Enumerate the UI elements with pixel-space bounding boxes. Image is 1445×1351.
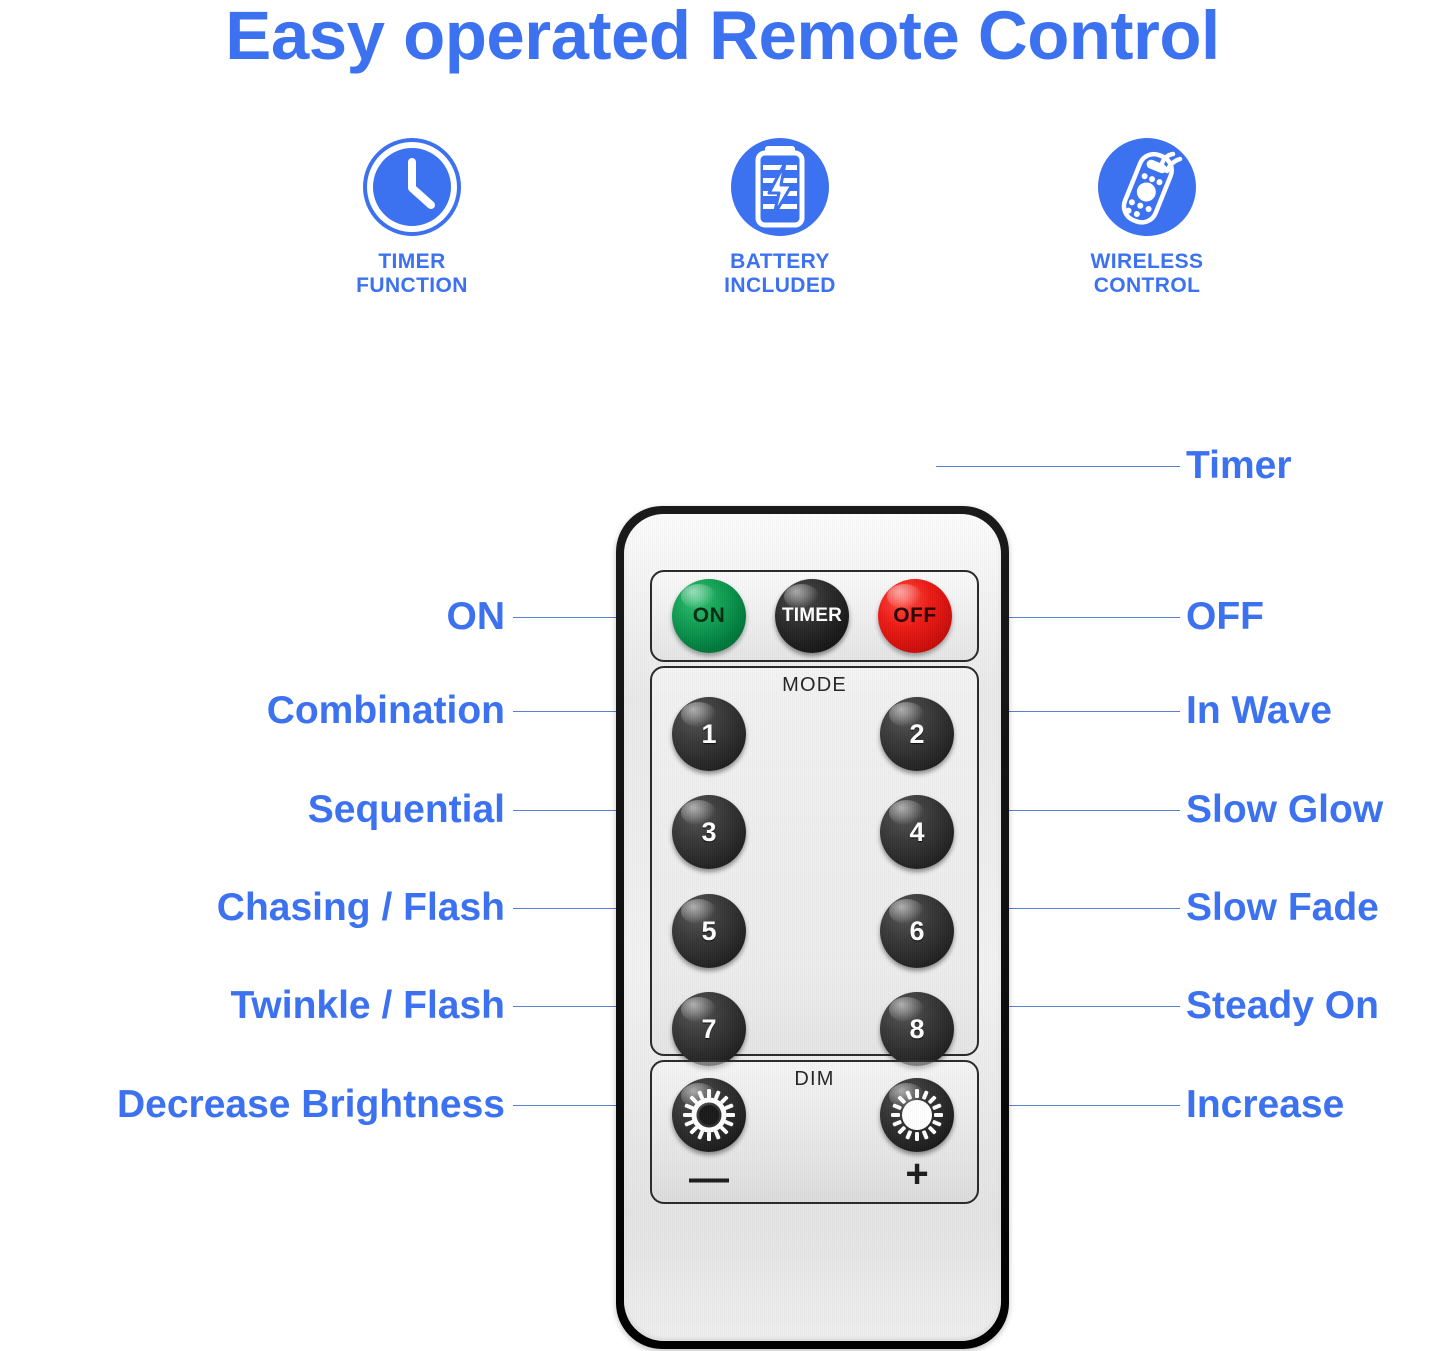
feature-wireless-label: WIRELESS CONTROL bbox=[997, 250, 1297, 297]
feature-timer-label-line1: TIMER bbox=[262, 250, 562, 274]
power-button-panel: ON TIMER OFF bbox=[650, 570, 979, 662]
leader-line-combination bbox=[513, 711, 625, 712]
clock-icon bbox=[262, 132, 562, 242]
brightness-increase-button[interactable] bbox=[880, 1078, 954, 1152]
mode-button-2[interactable]: 2 bbox=[880, 697, 954, 771]
leader-line-slow-fade bbox=[1000, 908, 1180, 909]
leader-line-off bbox=[1000, 617, 1180, 618]
remote-signal-icon bbox=[997, 132, 1297, 242]
callout-decrease-brightness: Decrease Brightness bbox=[0, 1085, 505, 1124]
mode-button-3[interactable]: 3 bbox=[672, 795, 746, 869]
leader-line-timer bbox=[936, 466, 1180, 467]
leader-line-decrease bbox=[513, 1105, 625, 1106]
mode-button-panel: MODE 1 2 3 4 5 6 7 8 bbox=[650, 666, 979, 1056]
callout-in-wave: In Wave bbox=[1186, 691, 1332, 730]
dim-minus-label: — bbox=[679, 1158, 739, 1198]
remote-control-device: ON TIMER OFF MODE 1 2 3 4 5 6 7 8 DIM bbox=[616, 506, 1009, 1349]
battery-icon bbox=[630, 132, 930, 242]
callout-on: ON bbox=[113, 597, 505, 636]
on-button[interactable]: ON bbox=[672, 579, 746, 653]
leader-line-slow-glow bbox=[1000, 810, 1180, 811]
feature-battery-label-line2: INCLUDED bbox=[630, 274, 930, 298]
dim-button-panel: DIM bbox=[650, 1060, 979, 1204]
page-title: Easy operated Remote Control bbox=[0, 0, 1445, 75]
feature-timer-label-line2: FUNCTION bbox=[262, 274, 562, 298]
sun-filled-icon bbox=[890, 1088, 944, 1142]
leader-line-on bbox=[513, 617, 625, 618]
leader-line-chasing bbox=[513, 908, 625, 909]
mode-button-1[interactable]: 1 bbox=[672, 697, 746, 771]
callout-chasing-flash: Chasing / Flash bbox=[113, 888, 505, 927]
off-button[interactable]: OFF bbox=[878, 579, 952, 653]
feature-timer-function: TIMER FUNCTION bbox=[262, 132, 562, 297]
mode-button-8[interactable]: 8 bbox=[880, 992, 954, 1066]
mode-button-4[interactable]: 4 bbox=[880, 795, 954, 869]
leader-line-increase bbox=[1000, 1105, 1180, 1106]
brightness-decrease-button[interactable] bbox=[672, 1078, 746, 1152]
timer-button[interactable]: TIMER bbox=[775, 579, 849, 653]
sun-outline-icon bbox=[682, 1088, 736, 1142]
leader-line-twinkle bbox=[513, 1006, 625, 1007]
leader-line-sequential bbox=[513, 810, 625, 811]
feature-timer-label: TIMER FUNCTION bbox=[262, 250, 562, 297]
callout-timer: Timer bbox=[1186, 446, 1292, 485]
mode-button-5[interactable]: 5 bbox=[672, 894, 746, 968]
mode-button-7[interactable]: 7 bbox=[672, 992, 746, 1066]
feature-wireless-control: WIRELESS CONTROL bbox=[997, 132, 1297, 297]
dim-plus-label: + bbox=[887, 1154, 947, 1194]
callout-slow-glow: Slow Glow bbox=[1186, 790, 1383, 829]
callout-increase: Increase bbox=[1186, 1085, 1344, 1124]
feature-battery-included: BATTERY INCLUDED bbox=[630, 132, 930, 297]
callout-combination: Combination bbox=[113, 691, 505, 730]
feature-wireless-label-line1: WIRELESS bbox=[997, 250, 1297, 274]
leader-line-in-wave bbox=[1000, 711, 1180, 712]
leader-line-steady-on bbox=[1000, 1006, 1180, 1007]
mode-caption: MODE bbox=[652, 674, 977, 697]
callout-steady-on: Steady On bbox=[1186, 986, 1379, 1025]
feature-battery-label: BATTERY INCLUDED bbox=[630, 250, 930, 297]
mode-button-6[interactable]: 6 bbox=[880, 894, 954, 968]
callout-sequential: Sequential bbox=[113, 790, 505, 829]
callout-off: OFF bbox=[1186, 597, 1264, 636]
callout-twinkle-flash: Twinkle / Flash bbox=[113, 986, 505, 1025]
remote-faceplate: ON TIMER OFF MODE 1 2 3 4 5 6 7 8 DIM bbox=[624, 514, 1001, 1341]
feature-wireless-label-line2: CONTROL bbox=[997, 274, 1297, 298]
callout-slow-fade: Slow Fade bbox=[1186, 888, 1379, 927]
feature-battery-label-line1: BATTERY bbox=[630, 250, 930, 274]
